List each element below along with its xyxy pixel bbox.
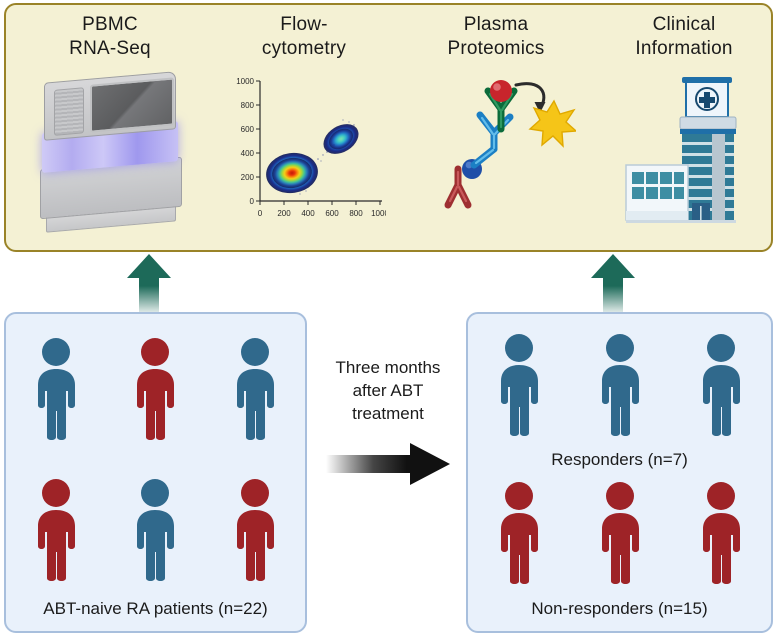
hospital-building-icon bbox=[608, 73, 760, 229]
assay-art-pbmc-rna-seq bbox=[20, 67, 200, 235]
assay-title-line1: Plasma bbox=[406, 13, 586, 37]
cohort-label-pre-treatment: ABT-naive RA patients (n=22) bbox=[6, 599, 305, 619]
assay-title-line1: PBMC bbox=[20, 13, 200, 37]
svg-text:400: 400 bbox=[301, 209, 315, 218]
assay-art-plasma-proteomics bbox=[406, 67, 586, 235]
person-row bbox=[468, 332, 771, 438]
person-icon-red bbox=[589, 480, 651, 586]
person-icon-blue bbox=[690, 332, 752, 438]
antibody-sandwich-assay-icon bbox=[416, 73, 576, 229]
dna-sequencer-icon bbox=[38, 75, 186, 227]
person-icon-red bbox=[690, 480, 752, 586]
transition-text: Three months after ABT treatment bbox=[312, 356, 464, 425]
person-icon-blue bbox=[124, 477, 186, 583]
assay-title-line2: Proteomics bbox=[406, 37, 586, 61]
transition-line1: Three months bbox=[312, 356, 464, 379]
svg-text:0: 0 bbox=[258, 209, 263, 218]
assay-title-line2: cytometry bbox=[214, 37, 394, 61]
svg-text:1000: 1000 bbox=[371, 209, 386, 218]
svg-text:600: 600 bbox=[325, 209, 339, 218]
assay-title-pbmc-rna-seq: PBMC RNA-Seq bbox=[20, 13, 200, 61]
up-arrow-icon bbox=[589, 252, 637, 314]
person-icon-red bbox=[25, 477, 87, 583]
svg-text:0: 0 bbox=[250, 197, 255, 206]
cohort-panel-pre-treatment: ABT-naive RA patients (n=22) bbox=[4, 312, 307, 633]
transition-block: Three months after ABT treatment bbox=[312, 356, 464, 486]
assay-title-flow-cytometry: Flow- cytometry bbox=[214, 13, 394, 61]
person-icon-blue bbox=[25, 336, 87, 442]
person-icon-blue bbox=[224, 336, 286, 442]
svg-text:800: 800 bbox=[349, 209, 363, 218]
person-row bbox=[6, 477, 305, 583]
person-icon-blue bbox=[488, 332, 550, 438]
up-arrow-icon bbox=[125, 252, 173, 314]
svg-text:800: 800 bbox=[241, 101, 255, 110]
cohort-panel-post-treatment: Responders (n=7) Non-responders (n=15) bbox=[466, 312, 773, 633]
svg-text:200: 200 bbox=[277, 209, 291, 218]
transition-line3: treatment bbox=[312, 402, 464, 425]
svg-text:400: 400 bbox=[241, 149, 255, 158]
svg-text:1000: 1000 bbox=[236, 77, 254, 86]
cohort-label-responders: Responders (n=7) bbox=[468, 450, 771, 470]
person-icon-red bbox=[488, 480, 550, 586]
assay-panel: PBMC RNA-Seq Flow- cytometry bbox=[4, 3, 773, 252]
person-icon-red bbox=[124, 336, 186, 442]
assay-column-flow-cytometry: Flow- cytometry bbox=[214, 13, 394, 249]
assay-title-plasma-proteomics: Plasma Proteomics bbox=[406, 13, 586, 61]
assay-title-line2: Information bbox=[594, 37, 774, 61]
person-icon-blue bbox=[589, 332, 651, 438]
assay-column-plasma-proteomics: Plasma Proteomics bbox=[406, 13, 586, 249]
person-row bbox=[468, 480, 771, 586]
assay-column-pbmc-rna-seq: PBMC RNA-Seq bbox=[20, 13, 200, 249]
transition-line2: after ABT bbox=[312, 379, 464, 402]
person-icon-red bbox=[224, 477, 286, 583]
person-row bbox=[6, 336, 305, 442]
right-arrow-icon bbox=[324, 441, 452, 487]
assay-column-clinical-information: Clinical Information bbox=[594, 13, 774, 249]
assay-title-line2: RNA-Seq bbox=[20, 37, 200, 61]
svg-text:200: 200 bbox=[241, 173, 255, 182]
assay-title-line1: Flow- bbox=[214, 13, 394, 37]
flow-cytometry-density-plot-icon: 0 200 400 600 800 1000 bbox=[222, 73, 386, 229]
assay-title-line1: Clinical bbox=[594, 13, 774, 37]
cohort-label-non-responders: Non-responders (n=15) bbox=[468, 599, 771, 619]
svg-text:600: 600 bbox=[241, 125, 255, 134]
assay-art-flow-cytometry: 0 200 400 600 800 1000 bbox=[214, 67, 394, 235]
assay-art-clinical-information bbox=[594, 67, 774, 235]
assay-title-clinical-information: Clinical Information bbox=[594, 13, 774, 61]
